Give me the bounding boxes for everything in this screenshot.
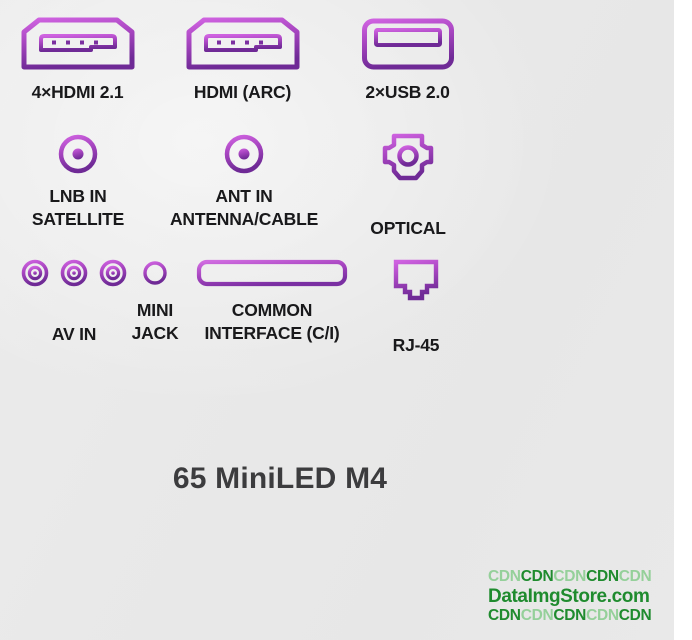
coaxial-port-icon (222, 132, 266, 176)
port-label-optical: OPTICAL (370, 217, 445, 240)
port-label-usb-20: 2×USB 2.0 (365, 81, 449, 104)
watermark-cdn-segment: CDN (488, 568, 521, 585)
watermark-site-name: DataImgStore.com (488, 587, 684, 606)
watermark-cdn-segment: CDN (619, 607, 652, 624)
port-item-ant-in: ANT IN ANTENNA/CABLE (155, 132, 333, 231)
rca-jack-icon (59, 258, 89, 288)
watermark-cdn-segment: CDN (488, 607, 521, 624)
watermark-cdn-segment: CDN (521, 607, 554, 624)
watermark-cdn-segment: CDN (586, 568, 619, 585)
port-item-optical: OPTICAL (348, 132, 468, 240)
port-label-lnb-in: LNB IN SATELLITE (32, 185, 124, 231)
port-label-mini-jack: MINI JACK (132, 299, 179, 345)
watermark-cdn-segment: CDN (553, 607, 586, 624)
coaxial-port-icon (56, 132, 100, 176)
port-item-usb-20: 2×USB 2.0 (345, 16, 470, 104)
optical-toslink-port-icon (381, 132, 435, 184)
screenshot-root: 4×HDMI 2.1 HDMI (ARC) 2×USB 2.0 (0, 0, 692, 640)
watermark-cdn-segment: CDN (553, 568, 586, 585)
port-item-hdmi-21: 4×HDMI 2.1 (10, 16, 145, 104)
common-interface-slot-icon (196, 258, 348, 288)
watermark-bottom-row: CDNCDNCDNCDNCDN (488, 608, 684, 624)
port-item-mini-jack: MINI JACK (124, 258, 186, 345)
port-item-rj-45: RJ-45 (357, 258, 475, 357)
hdmi-port-icon-wrap (19, 16, 137, 72)
hdmi-port-icon (184, 16, 302, 72)
mini-jack-port-icon (140, 258, 170, 288)
rca-triple-port-icon (20, 258, 128, 288)
watermark: CDNCDNCDNCDNCDN DataImgStore.com CDNCDNC… (488, 569, 684, 623)
usb-a-port-icon-wrap (360, 16, 456, 72)
rca-jack-icon (20, 258, 50, 288)
mini-jack-port-icon-wrap (140, 258, 170, 288)
rj45-ethernet-port-icon (392, 258, 440, 302)
watermark-cdn-segment: CDN (521, 568, 554, 585)
port-label-rj-45: RJ-45 (393, 334, 440, 357)
port-item-common-interface: COMMON INTERFACE (C/I) (192, 258, 352, 345)
coaxial-port-icon-wrap (56, 132, 100, 176)
port-label-hdmi-arc: HDMI (ARC) (194, 81, 291, 104)
port-label-av-in: AV IN (52, 323, 96, 346)
watermark-top-row: CDNCDNCDNCDNCDN (488, 569, 684, 585)
port-item-hdmi-arc: HDMI (ARC) (175, 16, 310, 104)
port-label-hdmi-21: 4×HDMI 2.1 (32, 81, 124, 104)
hdmi-arc-port-icon-wrap (184, 16, 302, 72)
coaxial-port-icon-wrap (222, 132, 266, 176)
hdmi-port-icon (19, 16, 137, 72)
port-label-ant-in: ANT IN ANTENNA/CABLE (170, 185, 318, 231)
watermark-cdn-segment: CDN (619, 568, 652, 585)
common-interface-slot-icon-wrap (196, 258, 348, 288)
rca-triple-port-icon-wrap (20, 258, 128, 288)
optical-toslink-port-icon-wrap (381, 132, 435, 184)
watermark-cdn-segment: CDN (586, 607, 619, 624)
port-item-lnb-in: LNB IN SATELLITE (14, 132, 142, 231)
usb-a-port-icon (360, 16, 456, 72)
rj45-ethernet-port-icon-wrap (392, 258, 440, 302)
port-label-common-interface: COMMON INTERFACE (C/I) (204, 299, 339, 345)
product-model-name: 65 MiniLED M4 (0, 462, 560, 496)
port-item-av-in: AV IN (10, 258, 138, 346)
